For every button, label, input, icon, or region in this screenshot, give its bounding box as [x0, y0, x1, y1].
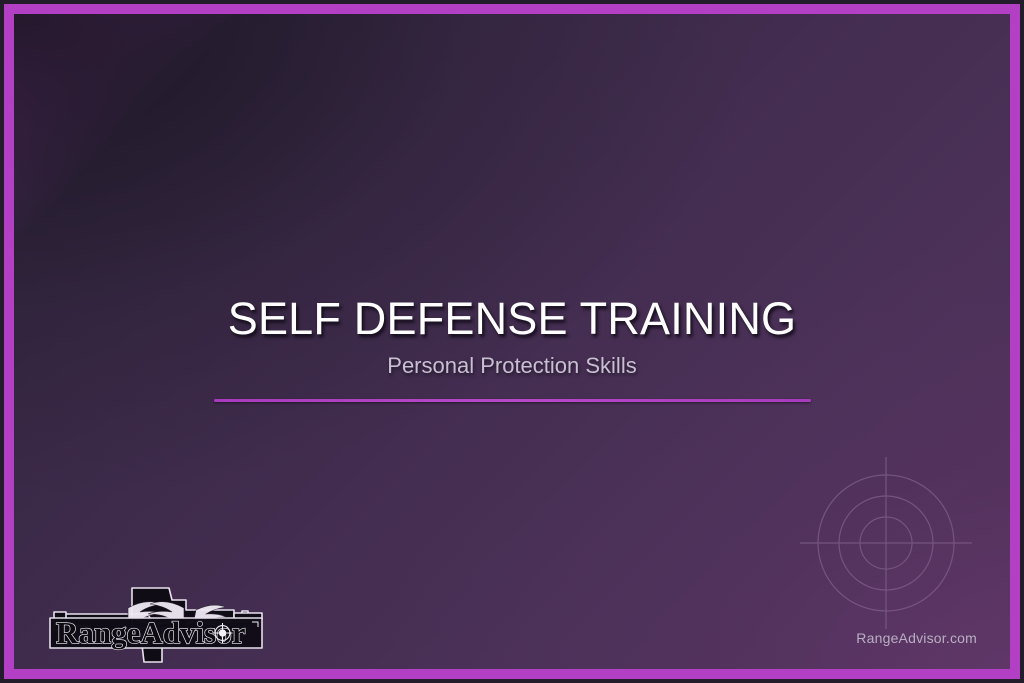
title-block: SELF DEFENSE TRAINING Personal Protectio… — [14, 296, 1010, 402]
title-divider — [214, 399, 811, 402]
target-reticle-icon — [786, 443, 986, 643]
page-title: SELF DEFENSE TRAINING — [14, 296, 1010, 341]
slide-surface: SELF DEFENSE TRAINING Personal Protectio… — [14, 14, 1010, 669]
site-watermark: RangeAdvisor.com — [856, 630, 977, 646]
slide-canvas: SELF DEFENSE TRAINING Personal Protectio… — [0, 0, 1024, 683]
rangeadvisor-logo: .blk { fill:#100c16; stroke:#e8e2ee; str… — [36, 570, 276, 669]
page-subtitle: Personal Protection Skills — [14, 355, 1010, 377]
